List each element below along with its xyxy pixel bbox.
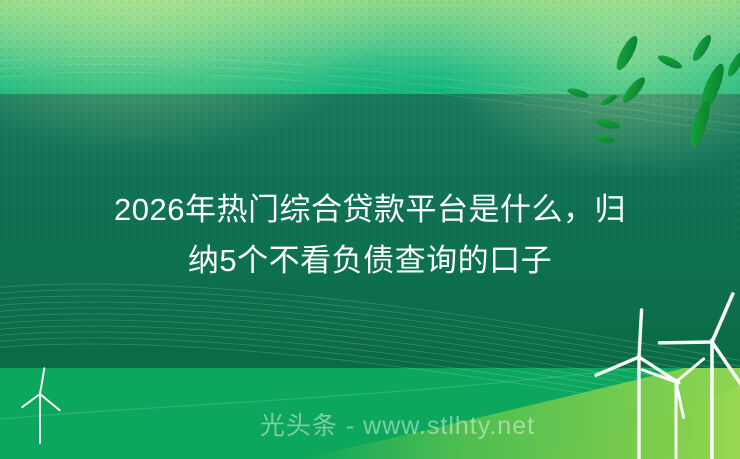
article-cover-banner: 2026年热门综合贷款平台是什么，归 纳5个不看负债查询的口子 光头条 - ww… — [0, 0, 740, 459]
site-watermark: 光头条 - www.stlhty.net — [0, 406, 740, 442]
top-gradient-band — [0, 0, 740, 94]
page-title: 2026年热门综合贷款平台是什么，归 纳5个不看负债查询的口子 — [0, 184, 740, 286]
